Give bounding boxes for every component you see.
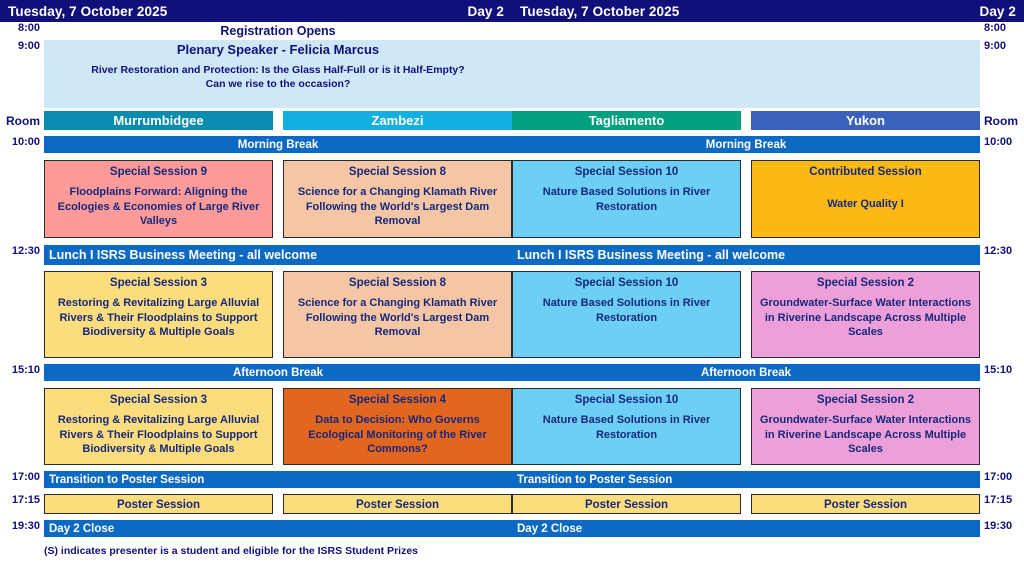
registration-row-right: 8:00 bbox=[512, 22, 1024, 40]
time-1510-left: 15:10 bbox=[0, 364, 44, 381]
session-desc: Nature Based Solutions in River Restorat… bbox=[517, 296, 736, 325]
plenary-row-right: 9:00 bbox=[512, 40, 1024, 108]
time-1000-left: 10:00 bbox=[0, 136, 44, 153]
afternoon-session-row-left: Special Session 3 Restoring & Revitalizi… bbox=[0, 271, 512, 358]
session-title: Special Session 3 bbox=[110, 277, 207, 289]
late-session-row-left: Special Session 3 Restoring & Revitalizi… bbox=[0, 388, 512, 465]
lunch-bar-left[interactable]: Lunch I ISRS Business Meeting - all welc… bbox=[44, 245, 512, 265]
poster-row-left: 17:15 Poster Session Poster Session bbox=[0, 494, 512, 514]
registration-row: 8:00 Registration Opens bbox=[0, 22, 512, 40]
session-ss10-afternoon[interactable]: Special Session 10 Nature Based Solution… bbox=[512, 271, 741, 358]
poster-session-tagliamento[interactable]: Poster Session bbox=[512, 494, 741, 514]
time-0900: 9:00 bbox=[0, 40, 44, 108]
session-ss9[interactable]: Special Session 9 Floodplains Forward: A… bbox=[44, 160, 273, 238]
session-ss2-afternoon[interactable]: Special Session 2 Groundwater-Surface Wa… bbox=[751, 271, 980, 358]
right-panel: Tuesday, 7 October 2025 Day 2 8:00 9:00 … bbox=[512, 0, 1024, 563]
poster-session-zambezi[interactable]: Poster Session bbox=[283, 494, 512, 514]
right-title-bar: Tuesday, 7 October 2025 Day 2 bbox=[512, 0, 1024, 22]
session-title: Special Session 4 bbox=[349, 394, 446, 406]
left-panel: Tuesday, 7 October 2025 Day 2 8:00 Regis… bbox=[0, 0, 512, 563]
transition-bar-left[interactable]: Transition to Poster Session bbox=[44, 471, 512, 488]
session-title: Special Session 9 bbox=[110, 166, 207, 178]
session-desc: Water Quality I bbox=[827, 197, 904, 212]
room-header-row-left: Room Murrumbidgee Zambezi bbox=[0, 111, 512, 130]
time-1930-right: 19:30 bbox=[980, 520, 1024, 537]
session-title: Poster Session bbox=[356, 499, 439, 511]
right-date-label: Tuesday, 7 October 2025 bbox=[520, 4, 679, 19]
time-1700-left: 17:00 bbox=[0, 471, 44, 488]
transition-row-left: 17:00 Transition to Poster Session bbox=[0, 471, 512, 488]
plenary-block[interactable]: Plenary Speaker - Felicia Marcus River R… bbox=[44, 40, 512, 108]
transition-row-right: Transition to Poster Session 17:00 bbox=[512, 471, 1024, 488]
session-desc: Data to Decision: Who Governs Ecological… bbox=[288, 413, 507, 457]
session-title: Special Session 8 bbox=[349, 166, 446, 178]
close-row-right: Day 2 Close 19:30 bbox=[512, 520, 1024, 537]
session-desc: Nature Based Solutions in River Restorat… bbox=[517, 185, 736, 214]
session-ss8-afternoon[interactable]: Special Session 8 Science for a Changing… bbox=[283, 271, 512, 358]
student-prize-note: (S) indicates presenter is a student and… bbox=[0, 537, 512, 557]
session-title: Contributed Session bbox=[809, 166, 921, 178]
session-desc: Restoring & Revitalizing Large Alluvial … bbox=[49, 296, 268, 340]
transition-bar-right[interactable]: Transition to Poster Session bbox=[512, 471, 980, 488]
time-1000-right: 10:00 bbox=[980, 136, 1024, 153]
plenary-block-continuation bbox=[512, 40, 980, 108]
time-1930-left: 19:30 bbox=[0, 520, 44, 537]
time-1230-right: 12:30 bbox=[980, 245, 1024, 265]
morning-break-bar-left[interactable]: Morning Break bbox=[44, 136, 512, 153]
session-title: Special Session 10 bbox=[575, 277, 679, 289]
lunch-bar-right[interactable]: Lunch I ISRS Business Meeting - all welc… bbox=[512, 245, 980, 265]
time-1715-left: 17:15 bbox=[0, 494, 44, 514]
afternoon-session-row-right: Special Session 10 Nature Based Solution… bbox=[512, 271, 1024, 358]
morning-break-bar-right[interactable]: Morning Break bbox=[512, 136, 980, 153]
session-title: Special Session 8 bbox=[349, 277, 446, 289]
close-bar-left[interactable]: Day 2 Close bbox=[44, 520, 512, 537]
session-desc: Nature Based Solutions in River Restorat… bbox=[517, 413, 736, 442]
plenary-speaker: Plenary Speaker - Felicia Marcus bbox=[177, 42, 379, 57]
poster-session-yukon[interactable]: Poster Session bbox=[751, 494, 980, 514]
session-desc: Groundwater-Surface Water Interactions i… bbox=[756, 296, 975, 340]
time-1230-left: 12:30 bbox=[0, 245, 44, 265]
room-header-zambezi[interactable]: Zambezi bbox=[283, 111, 512, 130]
morning-session-row-left: Special Session 9 Floodplains Forward: A… bbox=[0, 160, 512, 238]
left-title-bar: Tuesday, 7 October 2025 Day 2 bbox=[0, 0, 512, 22]
plenary-row: 9:00 Plenary Speaker - Felicia Marcus Ri… bbox=[0, 40, 512, 108]
morning-break-row-left: 10:00 Morning Break bbox=[0, 136, 512, 153]
lunch-row-right: Lunch I ISRS Business Meeting - all welc… bbox=[512, 245, 1024, 265]
room-header-murrumbidgee[interactable]: Murrumbidgee bbox=[44, 111, 273, 130]
session-ss10-morning[interactable]: Special Session 10 Nature Based Solution… bbox=[512, 160, 741, 238]
afternoon-break-bar-left[interactable]: Afternoon Break bbox=[44, 364, 512, 381]
session-title: Poster Session bbox=[824, 499, 907, 511]
registration-label: Registration Opens bbox=[44, 22, 512, 40]
session-ss8-morning[interactable]: Special Session 8 Science for a Changing… bbox=[283, 160, 512, 238]
time-1510-right: 15:10 bbox=[980, 364, 1024, 381]
room-header-row-right: Tagliamento Yukon Room bbox=[512, 111, 1024, 130]
close-bar-right[interactable]: Day 2 Close bbox=[512, 520, 980, 537]
session-ss4[interactable]: Special Session 4 Data to Decision: Who … bbox=[283, 388, 512, 465]
left-day-label: Day 2 bbox=[467, 4, 504, 19]
session-ss3-afternoon[interactable]: Special Session 3 Restoring & Revitalizi… bbox=[44, 271, 273, 358]
session-desc: Groundwater-Surface Water Interactions i… bbox=[756, 413, 975, 457]
session-desc: Science for a Changing Klamath River Fol… bbox=[288, 296, 507, 340]
time-1715-right: 17:15 bbox=[980, 494, 1024, 514]
session-title: Poster Session bbox=[117, 499, 200, 511]
session-title: Special Session 10 bbox=[575, 394, 679, 406]
time-0900-right: 9:00 bbox=[980, 40, 1024, 108]
afternoon-break-row-right: Afternoon Break 15:10 bbox=[512, 364, 1024, 381]
poster-session-murrumbidgee[interactable]: Poster Session bbox=[44, 494, 273, 514]
room-header-yukon[interactable]: Yukon bbox=[751, 111, 980, 130]
session-title: Special Session 3 bbox=[110, 394, 207, 406]
schedule-page: Tuesday, 7 October 2025 Day 2 8:00 Regis… bbox=[0, 0, 1024, 563]
session-title: Poster Session bbox=[585, 499, 668, 511]
plenary-subtitle-line1: River Restoration and Protection: Is the… bbox=[91, 63, 464, 77]
time-1700-right: 17:00 bbox=[980, 471, 1024, 488]
plenary-subtitle-line2: Can we rise to the occasion? bbox=[206, 77, 351, 91]
session-contributed-water-quality-1[interactable]: Contributed Session Water Quality I bbox=[751, 160, 980, 238]
session-title: Special Session 2 bbox=[817, 277, 914, 289]
session-title: Special Session 2 bbox=[817, 394, 914, 406]
poster-row-right: Poster Session Poster Session 17:15 bbox=[512, 494, 1024, 514]
left-date-label: Tuesday, 7 October 2025 bbox=[8, 4, 167, 19]
afternoon-break-row-left: 15:10 Afternoon Break bbox=[0, 364, 512, 381]
session-desc: Floodplains Forward: Aligning the Ecolog… bbox=[49, 185, 268, 229]
room-header-tagliamento[interactable]: Tagliamento bbox=[512, 111, 741, 130]
time-0800-right: 8:00 bbox=[980, 22, 1024, 40]
morning-session-row-right: Special Session 10 Nature Based Solution… bbox=[512, 160, 1024, 238]
lunch-row-left: 12:30 Lunch I ISRS Business Meeting - al… bbox=[0, 245, 512, 265]
afternoon-break-bar-right[interactable]: Afternoon Break bbox=[512, 364, 980, 381]
late-session-row-right: Special Session 10 Nature Based Solution… bbox=[512, 388, 1024, 465]
morning-break-row-right: Morning Break 10:00 bbox=[512, 136, 1024, 153]
session-ss3-late[interactable]: Special Session 3 Restoring & Revitalizi… bbox=[44, 388, 273, 465]
right-day-label: Day 2 bbox=[979, 4, 1016, 19]
time-0800: 8:00 bbox=[0, 22, 44, 40]
session-desc: Restoring & Revitalizing Large Alluvial … bbox=[49, 413, 268, 457]
room-label-left: Room bbox=[0, 111, 44, 130]
room-label-right: Room bbox=[980, 111, 1024, 130]
session-title: Special Session 10 bbox=[575, 166, 679, 178]
session-desc: Science for a Changing Klamath River Fol… bbox=[288, 185, 507, 229]
close-row-left: 19:30 Day 2 Close bbox=[0, 520, 512, 537]
session-ss10-late[interactable]: Special Session 10 Nature Based Solution… bbox=[512, 388, 741, 465]
session-ss2-late[interactable]: Special Session 2 Groundwater-Surface Wa… bbox=[751, 388, 980, 465]
